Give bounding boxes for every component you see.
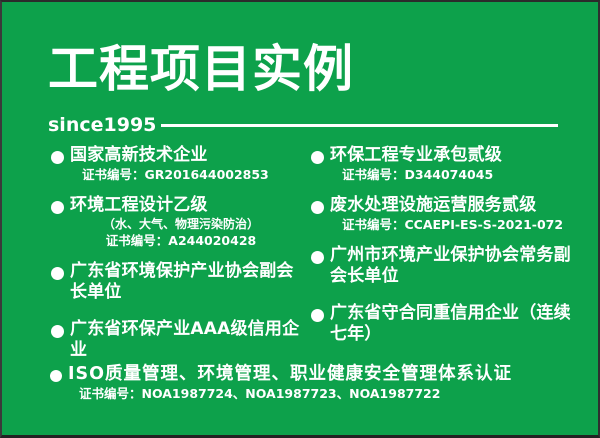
bullet-dot-icon — [51, 151, 64, 164]
bullet-dot-icon — [311, 309, 324, 322]
bullet-dot-icon — [311, 251, 324, 264]
credentials-left-column: 国家高新技术企业 证书编号：GR201644002853 环境工程设计乙级 （水… — [48, 145, 306, 370]
bullet-dot-icon — [311, 201, 324, 214]
credential-title: 环境工程设计乙级 — [70, 195, 306, 216]
credential-title: 环保工程专业承包贰级 — [330, 145, 576, 166]
credential-cert-number: 证书编号：CCAEPI-ES-S-2021-072 — [330, 216, 576, 233]
credential-iso-row: ISO质量管理、环境管理、职业健康安全管理体系认证 证书编号：NOA198772… — [48, 364, 588, 402]
credential-title: 广东省环境保护产业协会副会长单位 — [70, 261, 306, 303]
credential-title: 废水处理设施运营服务贰级 — [330, 195, 576, 216]
list-item: 广东省环保产业AAA级信用企业 — [48, 319, 306, 361]
bullet-dot-icon — [50, 370, 62, 382]
credential-title: ISO质量管理、环境管理、职业健康安全管理体系认证 — [68, 364, 588, 385]
list-item: 广东省环境保护产业协会副会长单位 — [48, 261, 306, 303]
list-item: 广东省守合同重信用企业（连续七年） — [308, 303, 576, 345]
credential-title: 广州市环境产业保护协会常务副会长单位 — [330, 245, 576, 287]
certification-poster: 工程项目实例 since1995 国家高新技术企业 证书编号：GR2016440… — [0, 0, 600, 438]
credential-cert-number: 证书编号：D344074045 — [330, 166, 576, 183]
bullet-dot-icon — [51, 325, 64, 338]
list-item: 广州市环境产业保护协会常务副会长单位 — [308, 245, 576, 287]
credential-title: 广东省守合同重信用企业（连续七年） — [330, 303, 576, 345]
credential-title: 国家高新技术企业 — [70, 145, 306, 166]
list-item: 国家高新技术企业 证书编号：GR201644002853 — [48, 145, 306, 183]
list-item: 废水处理设施运营服务贰级 证书编号：CCAEPI-ES-S-2021-072 — [308, 195, 576, 233]
list-item: 环境工程设计乙级 （水、大气、物理污染防治） 证书编号：A244020428 — [48, 195, 306, 249]
bullet-dot-icon — [51, 267, 64, 280]
credentials-right-column: 环保工程专业承包贰级 证书编号：D344074045 废水处理设施运营服务贰级 … — [308, 145, 576, 354]
credential-cert-number: 证书编号：A244020428 — [70, 232, 306, 249]
credential-scope-note: （水、大气、物理污染防治） — [70, 216, 306, 232]
bullet-dot-icon — [51, 201, 64, 214]
credential-cert-number: 证书编号：NOA1987724、NOA1987723、NOA1987722 — [68, 385, 588, 402]
since-label: since1995 — [48, 114, 156, 136]
bullet-dot-icon — [311, 151, 324, 164]
since-row: since1995 — [48, 114, 558, 136]
credential-cert-number: 证书编号：GR201644002853 — [70, 166, 306, 183]
credential-title: 广东省环保产业AAA级信用企业 — [70, 319, 306, 361]
list-item: 环保工程专业承包贰级 证书编号：D344074045 — [308, 145, 576, 183]
page-title: 工程项目实例 — [48, 40, 354, 98]
header-divider — [161, 124, 558, 127]
